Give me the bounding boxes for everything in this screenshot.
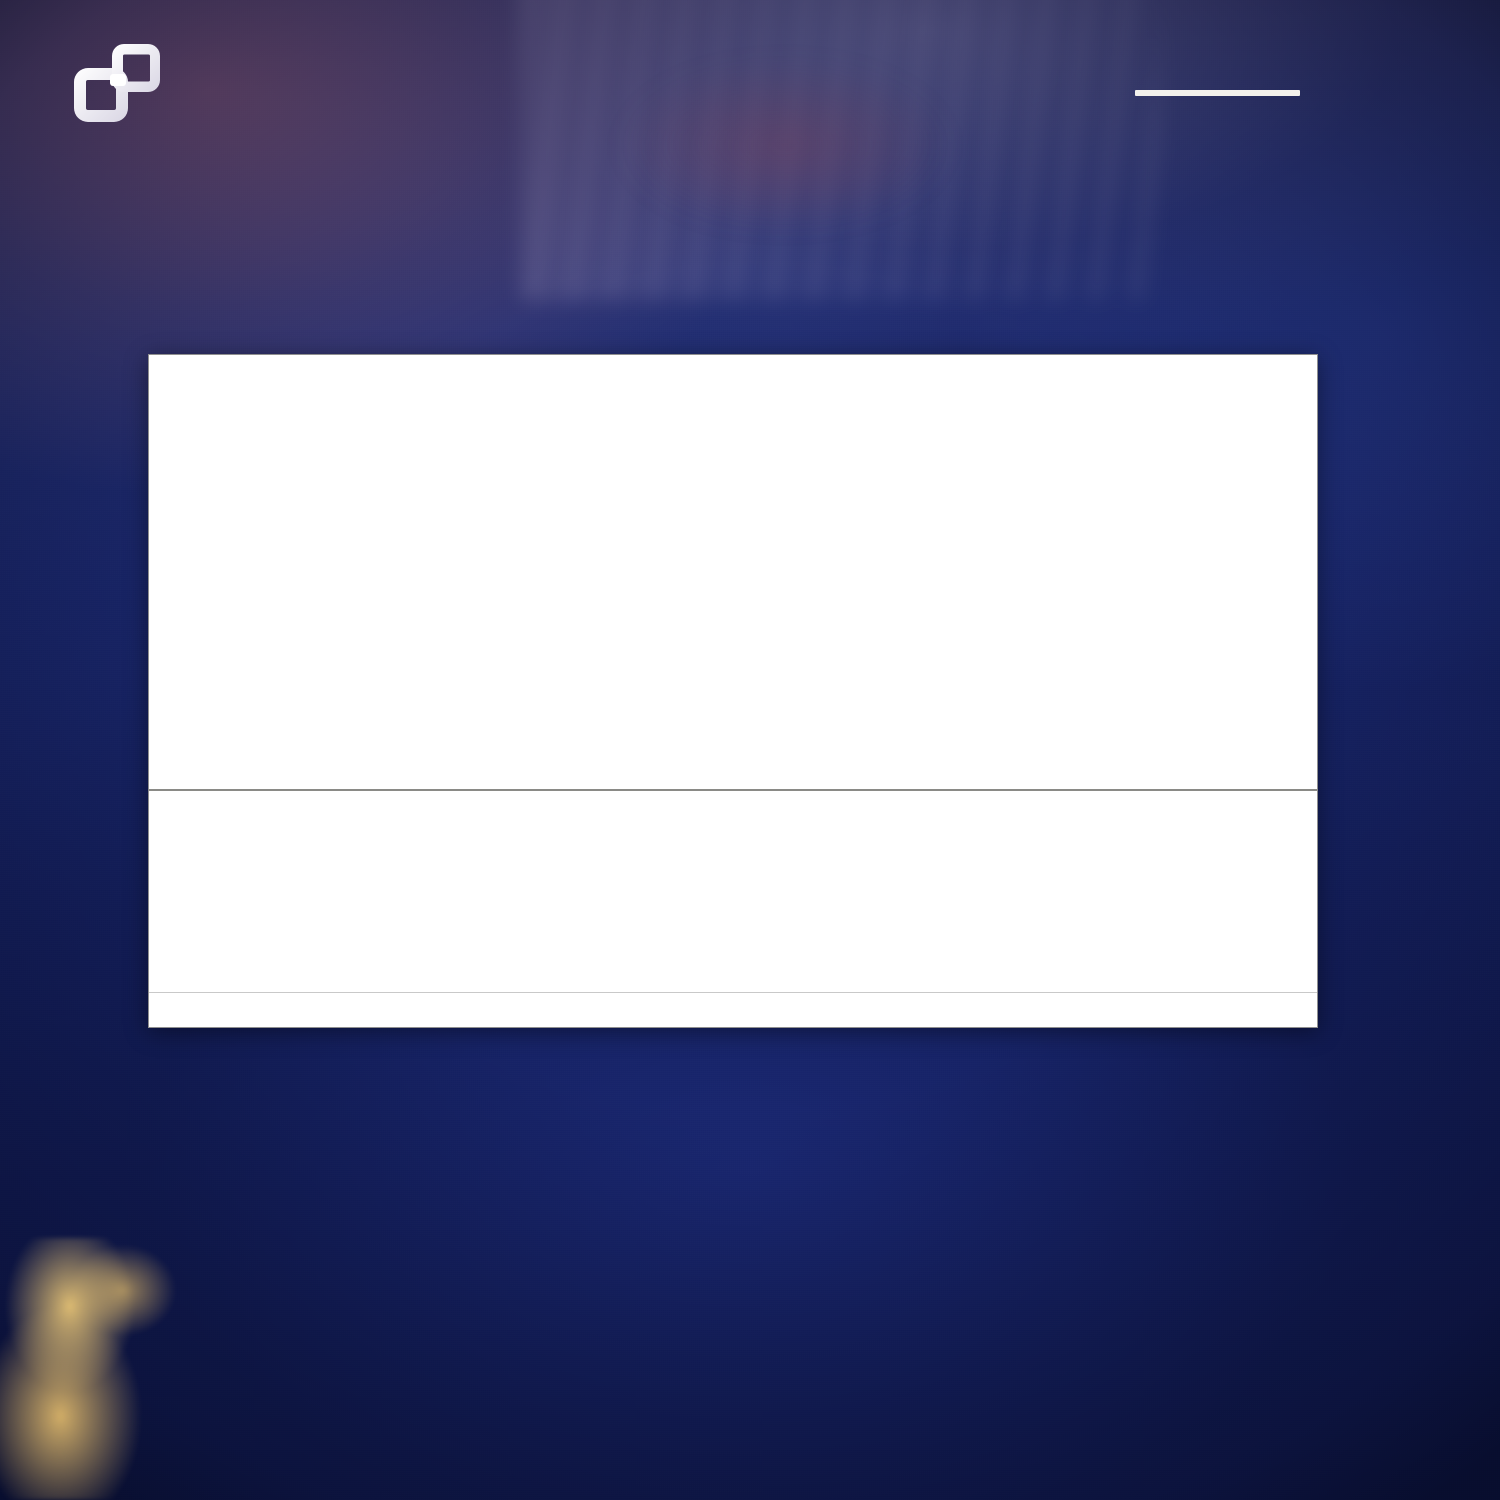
timeframe-block [1135, 64, 1300, 96]
date-axis [149, 992, 1317, 1027]
macd-signal-line [149, 791, 1317, 991]
price-chart-panel[interactable] [148, 354, 1318, 1028]
golden-bull-decor [0, 1238, 214, 1500]
timeframe-underline [1135, 90, 1300, 96]
price-pane [149, 355, 1317, 789]
interlocking-squares-logo-icon [66, 44, 170, 136]
macd-pane [149, 791, 1317, 991]
brand-logo [52, 44, 302, 147]
chart-inner [149, 355, 1317, 1027]
article-copy [110, 1070, 1390, 1112]
poster-root [0, 0, 1500, 1500]
